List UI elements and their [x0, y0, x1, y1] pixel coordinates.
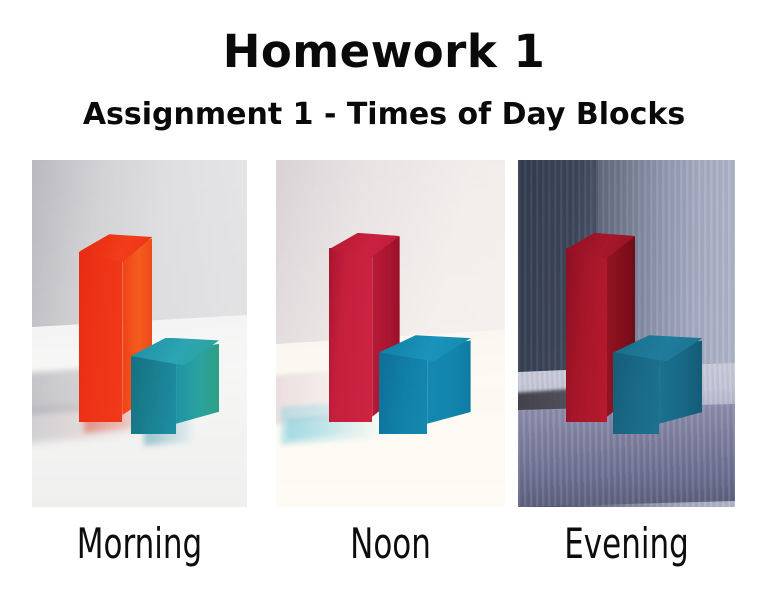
artwork-panel-evening[interactable] — [518, 160, 735, 507]
page-subtitle: Assignment 1 - Times of Day Blocks — [0, 96, 768, 134]
caption-morning: Morning — [51, 520, 227, 568]
cube-front-face — [613, 353, 659, 435]
image-gallery: Morning Noon Evening — [0, 160, 768, 590]
red-block-front-face — [566, 248, 607, 422]
cube-front-face — [379, 353, 427, 435]
evening-blocks-painting — [518, 160, 735, 507]
morning-blocks-painting — [32, 160, 247, 507]
caption-noon: Noon — [297, 520, 485, 568]
artwork-panel-noon[interactable] — [276, 160, 505, 507]
caption-evening: Evening — [538, 520, 716, 568]
slide-canvas: Homework 1 Assignment 1 - Times of Day B… — [0, 0, 768, 603]
artwork-panel-morning[interactable] — [32, 160, 247, 507]
noon-blocks-painting — [276, 160, 505, 507]
page-title: Homework 1 — [0, 26, 768, 78]
red-block-front-face — [329, 248, 373, 422]
red-block-front-face — [79, 252, 122, 422]
cube-front-face — [131, 356, 176, 434]
